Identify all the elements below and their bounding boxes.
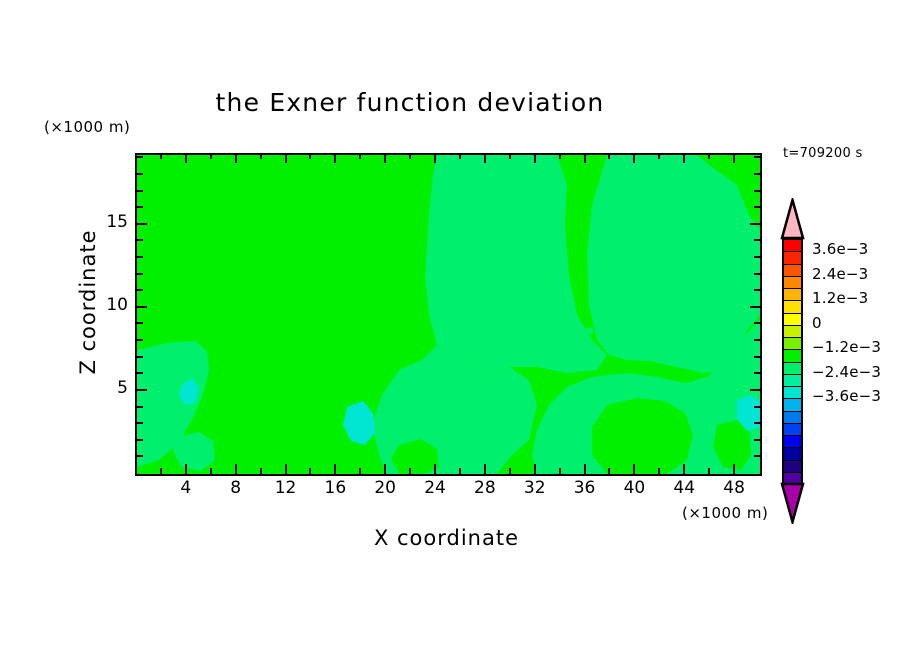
y-tick-13 <box>137 256 143 258</box>
x-tick-14 <box>309 468 311 474</box>
colorbar-band-16 <box>784 436 801 448</box>
contour-scallop-0 <box>572 324 582 330</box>
x-tick-top-16 <box>334 153 336 163</box>
x-tick-16 <box>334 464 336 474</box>
y-tick-right-11 <box>754 289 760 291</box>
y-tick-6 <box>137 372 143 374</box>
x-tick-top-2 <box>160 153 162 159</box>
y-tick-right-10 <box>750 306 760 308</box>
x-axis-unit-label: (×1000 m) <box>682 504 768 522</box>
contour-band-negative-right <box>587 155 760 373</box>
x-tick-label-20: 20 <box>365 478 405 498</box>
colorbar-band-4 <box>784 289 801 301</box>
y-tick-19 <box>137 156 143 158</box>
x-tick-top-46 <box>708 153 710 159</box>
x-tick-top-32 <box>534 153 536 163</box>
colorbar-band-14 <box>784 412 801 424</box>
x-tick-label-44: 44 <box>664 478 704 498</box>
y-tick-right-5 <box>750 389 760 391</box>
x-tick-2 <box>160 468 162 474</box>
x-tick-label-40: 40 <box>614 478 654 498</box>
x-tick-38 <box>608 468 610 474</box>
y-tick-right-16 <box>754 206 760 208</box>
x-tick-label-36: 36 <box>565 478 605 498</box>
colorbar-label-3: 0 <box>812 314 822 332</box>
colorbar-label-4: −1.2e−3 <box>812 338 881 356</box>
y-tick-right-18 <box>754 173 760 175</box>
x-tick-12 <box>285 464 287 474</box>
x-tick-8 <box>235 464 237 474</box>
y-tick-14 <box>137 239 143 241</box>
y-tick-label-15: 15 <box>88 212 128 232</box>
colorbar-label-5: −2.4e−3 <box>812 363 881 381</box>
colorbar-band-1 <box>784 252 801 264</box>
x-tick-34 <box>559 468 561 474</box>
over-arrow-shape <box>782 200 803 238</box>
y-tick-right-8 <box>754 339 760 341</box>
y-tick-12 <box>137 273 143 275</box>
colorbar-band-0 <box>784 240 801 252</box>
colorbar-over-arrow <box>776 198 809 240</box>
x-tick-label-8: 8 <box>216 478 256 498</box>
y-tick-label-5: 5 <box>88 378 128 398</box>
x-tick-top-12 <box>285 153 287 163</box>
colorbar-band-13 <box>784 399 801 411</box>
colorbar-band-2 <box>784 265 801 277</box>
y-tick-9 <box>137 322 143 324</box>
colorbar-band-8 <box>784 338 801 350</box>
contour-field <box>137 155 760 474</box>
colorbar-band-7 <box>784 326 801 338</box>
x-tick-top-24 <box>434 153 436 163</box>
y-axis-unit-label: (×1000 m) <box>44 118 130 136</box>
x-tick-top-44 <box>683 153 685 163</box>
y-tick-1 <box>137 455 143 457</box>
x-tick-28 <box>484 464 486 474</box>
y-tick-8 <box>137 339 143 341</box>
x-tick-top-28 <box>484 153 486 163</box>
x-tick-top-40 <box>633 153 635 163</box>
x-tick-32 <box>534 464 536 474</box>
x-tick-label-24: 24 <box>415 478 455 498</box>
colorbar-band-10 <box>784 363 801 375</box>
x-tick-46 <box>708 468 710 474</box>
x-tick-label-12: 12 <box>266 478 306 498</box>
y-tick-right-19 <box>754 156 760 158</box>
x-tick-top-8 <box>235 153 237 163</box>
colorbar-band-11 <box>784 375 801 387</box>
contour-scallop-3 <box>612 328 622 334</box>
contour-scallop-1 <box>584 328 594 334</box>
x-tick-18 <box>359 468 361 474</box>
x-tick-label-48: 48 <box>714 478 754 498</box>
y-tick-right-17 <box>754 190 760 192</box>
y-tick-right-1 <box>754 455 760 457</box>
x-tick-top-4 <box>185 153 187 163</box>
colorbar-label-6: −3.6e−3 <box>812 387 881 405</box>
x-tick-label-32: 32 <box>515 478 555 498</box>
x-tick-top-10 <box>260 153 262 159</box>
y-tick-right-2 <box>754 439 760 441</box>
y-tick-right-15 <box>750 223 760 225</box>
x-tick-label-4: 4 <box>166 478 206 498</box>
x-tick-top-14 <box>309 153 311 159</box>
x-tick-top-42 <box>658 153 660 159</box>
x-tick-top-38 <box>608 153 610 159</box>
x-tick-6 <box>210 468 212 474</box>
y-tick-right-14 <box>754 239 760 241</box>
contour-scallop-5 <box>644 328 654 334</box>
x-tick-10 <box>260 468 262 474</box>
colorbar-band-18 <box>784 461 801 473</box>
colorbar-band-5 <box>784 301 801 313</box>
x-tick-top-18 <box>359 153 361 159</box>
x-tick-4 <box>185 464 187 474</box>
x-tick-20 <box>384 464 386 474</box>
y-tick-right-9 <box>754 322 760 324</box>
contour-island-green-a <box>592 398 693 474</box>
y-tick-right-3 <box>754 422 760 424</box>
y-tick-10 <box>137 306 147 308</box>
x-tick-48 <box>733 464 735 474</box>
x-tick-26 <box>459 468 461 474</box>
y-tick-2 <box>137 439 143 441</box>
y-tick-17 <box>137 190 143 192</box>
colorbar-label-2: 1.2e−3 <box>812 289 868 307</box>
x-tick-top-48 <box>733 153 735 163</box>
contour-scallop-6 <box>662 330 672 336</box>
y-tick-18 <box>137 173 143 175</box>
x-tick-top-22 <box>409 153 411 159</box>
x-tick-top-30 <box>509 153 511 159</box>
colorbar-band-6 <box>784 314 801 326</box>
x-tick-24 <box>434 464 436 474</box>
x-tick-30 <box>509 468 511 474</box>
colorbar-label-0: 3.6e−3 <box>812 240 868 258</box>
under-arrow-shape <box>782 484 803 522</box>
colorbar-band-17 <box>784 448 801 460</box>
y-tick-right-7 <box>754 356 760 358</box>
contour-plot-area <box>135 153 762 476</box>
y-tick-4 <box>137 406 143 408</box>
contour-scallop-4 <box>628 330 638 336</box>
colorbar-band-3 <box>784 277 801 289</box>
x-tick-40 <box>633 464 635 474</box>
y-tick-15 <box>137 223 147 225</box>
x-tick-top-26 <box>459 153 461 159</box>
y-tick-16 <box>137 206 143 208</box>
x-tick-top-36 <box>584 153 586 163</box>
time-annotation: t=709200 s <box>783 146 863 161</box>
colorbar-band-12 <box>784 387 801 399</box>
x-tick-36 <box>584 464 586 474</box>
x-tick-top-34 <box>559 153 561 159</box>
x-axis-title: X coordinate <box>135 526 758 550</box>
x-tick-42 <box>658 468 660 474</box>
x-tick-top-20 <box>384 153 386 163</box>
x-tick-label-28: 28 <box>465 478 505 498</box>
y-tick-7 <box>137 356 143 358</box>
y-tick-right-12 <box>754 273 760 275</box>
contour-scallop-2 <box>598 330 608 336</box>
x-tick-top-6 <box>210 153 212 159</box>
colorbar-label-1: 2.4e−3 <box>812 265 868 283</box>
chart-title: the Exner function deviation <box>0 88 820 117</box>
y-tick-5 <box>137 389 147 391</box>
colorbar-band-9 <box>784 350 801 362</box>
colorbar-band-15 <box>784 424 801 436</box>
x-tick-44 <box>683 464 685 474</box>
y-tick-right-4 <box>754 406 760 408</box>
x-tick-22 <box>409 468 411 474</box>
y-tick-label-10: 10 <box>88 295 128 315</box>
y-tick-11 <box>137 289 143 291</box>
colorbar-under-arrow <box>776 482 809 524</box>
x-tick-label-16: 16 <box>315 478 355 498</box>
colorbar <box>782 238 803 483</box>
y-tick-right-13 <box>754 256 760 258</box>
y-tick-right-6 <box>754 372 760 374</box>
y-tick-3 <box>137 422 143 424</box>
